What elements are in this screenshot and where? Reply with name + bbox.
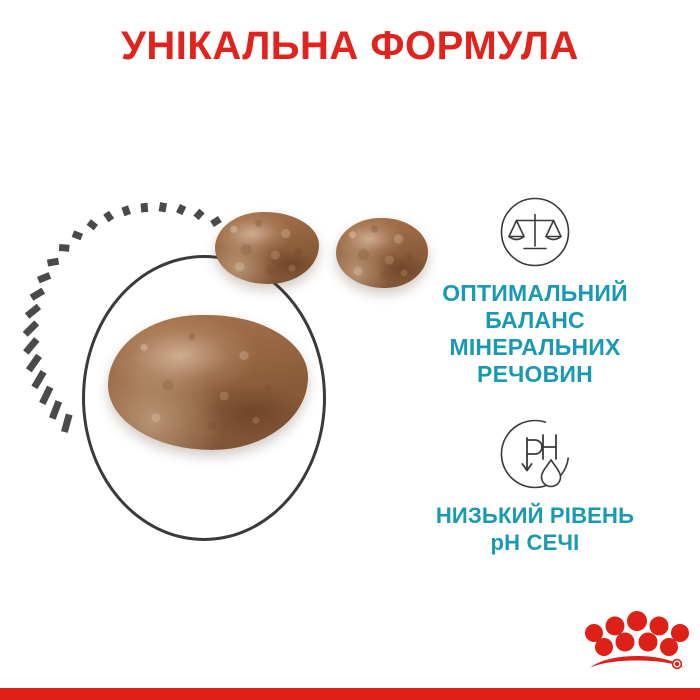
registered-trademark-mark <box>672 659 682 669</box>
kibble-illustration <box>0 150 400 590</box>
feature-line: БАЛАНС <box>442 307 628 334</box>
page-title: УНІКАЛЬНА ФОРМУЛА <box>0 20 700 72</box>
feature-line: ОПТИМАЛЬНИЙ <box>442 280 628 307</box>
bottom-accent-bar <box>0 688 700 700</box>
feature-low-ph: НИЗЬКИЙ РІВЕНЬ pH СЕЧІ <box>370 418 700 556</box>
balance-scales-icon <box>499 196 571 268</box>
feature-line: НИЗЬКИЙ РІВЕНЬ <box>436 502 634 529</box>
feature-mineral-balance: ОПТИМАЛЬНИЙ БАЛАНС МІНЕРАЛЬНИХ РЕЧОВИН <box>370 196 700 388</box>
kibble-small-right <box>336 218 428 288</box>
feature-line: РЕЧОВИН <box>442 361 628 388</box>
feature-line: pH СЕЧІ <box>436 529 634 556</box>
feature-mineral-balance-text: ОПТИМАЛЬНИЙ БАЛАНС МІНЕРАЛЬНИХ РЕЧОВИН <box>442 280 628 388</box>
royal-canin-crown-logo <box>582 600 692 678</box>
promo-panel: УНІКАЛЬНА ФОРМУЛА <box>0 0 700 700</box>
kibble-large <box>108 315 308 450</box>
ph-droplet-icon <box>499 418 571 490</box>
kibble-small-left <box>215 212 319 284</box>
feature-low-ph-text: НИЗЬКИЙ РІВЕНЬ pH СЕЧІ <box>436 502 634 556</box>
feature-line: МІНЕРАЛЬНИХ <box>442 334 628 361</box>
